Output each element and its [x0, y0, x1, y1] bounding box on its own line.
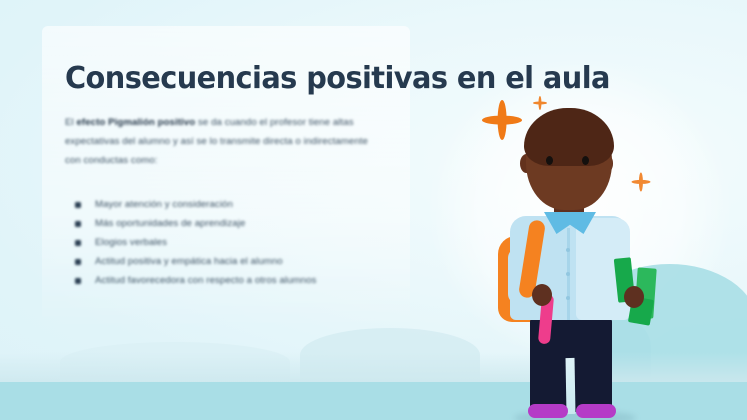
list-item-label: Actitud positiva y empática hacia el alu…: [95, 256, 283, 267]
hand-right: [624, 286, 644, 308]
list-item: Más oportunidades de aprendizaje: [65, 214, 385, 233]
shirt-button: [566, 248, 570, 252]
list-item-label: Actitud favorecedora con respecto a otro…: [95, 275, 316, 286]
paragraph-lead: El: [65, 117, 77, 128]
bullet-marker-icon: [75, 278, 81, 284]
bullet-marker-icon: [75, 221, 81, 227]
leg-gap: [566, 358, 576, 414]
page-title: Consecuencias positivas en el aula: [65, 63, 516, 95]
list-item-label: Elogios verbales: [95, 237, 167, 248]
list-item-label: Más oportunidades de aprendizaje: [95, 218, 245, 229]
slide-canvas: Consecuencias positivas en el aula El ef…: [0, 0, 747, 420]
intro-paragraph: El efecto Pigmalión positivo se da cuand…: [65, 113, 371, 170]
eye-right: [582, 156, 589, 165]
eye-left: [546, 156, 553, 165]
list-item: Actitud favorecedora con respecto a otro…: [65, 271, 385, 290]
shirt-button: [566, 296, 570, 300]
bullet-marker-icon: [75, 202, 81, 208]
bullet-marker-icon: [75, 240, 81, 246]
list-item-label: Mayor atención y consideración: [95, 199, 233, 210]
list-item: Actitud positiva y empática hacia el alu…: [65, 252, 385, 271]
bullet-marker-icon: [75, 259, 81, 265]
hair: [524, 108, 614, 166]
shoe-right: [576, 404, 616, 418]
paragraph-bold-term: efecto Pigmalión positivo: [77, 117, 196, 128]
behaviour-list: Mayor atención y consideración Más oport…: [65, 195, 385, 290]
shirt-button: [566, 272, 570, 276]
list-item: Elogios verbales: [65, 233, 385, 252]
list-item: Mayor atención y consideración: [65, 195, 385, 214]
student-illustration: [480, 108, 670, 420]
shoe-left: [528, 404, 568, 418]
hand-left: [532, 284, 552, 306]
